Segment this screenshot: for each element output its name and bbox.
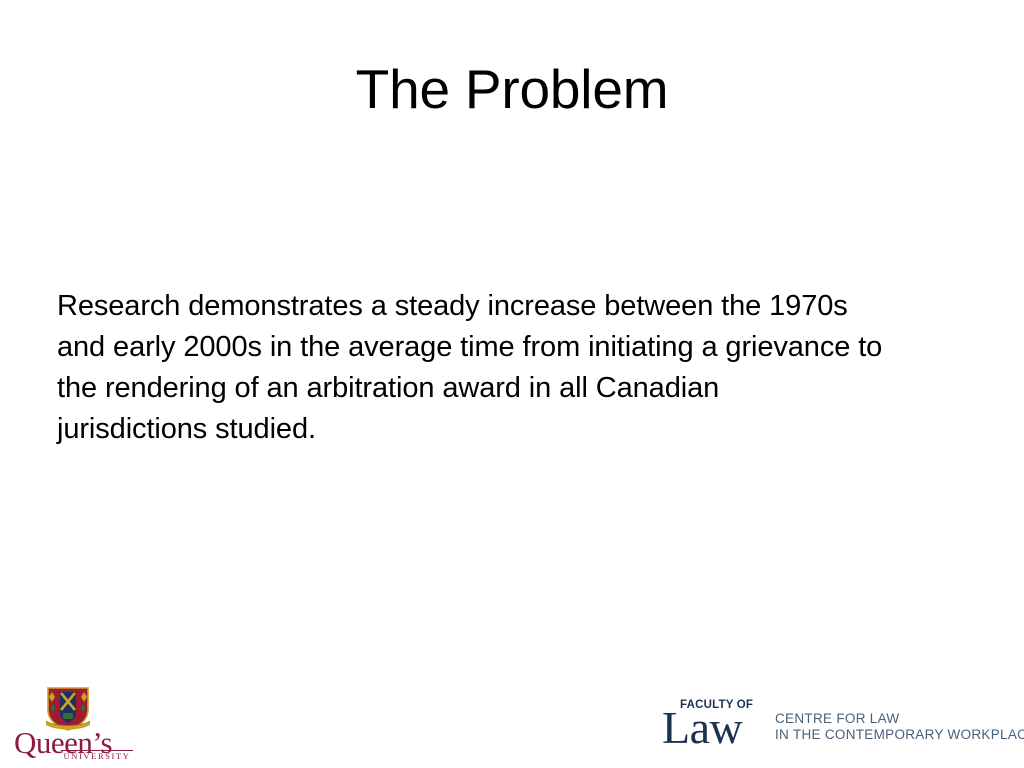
centre-name-line-2: IN THE CONTEMPORARY WORKPLACE (775, 727, 1015, 743)
body-line: and early 2000s in the average time from… (57, 327, 977, 368)
faculty-of-law-lockup: FACULTY OF Law (662, 699, 772, 751)
faculty-of-law-logo: FACULTY OF Law CENTRE FOR LAW IN THE CON… (662, 699, 1014, 751)
body-line: jurisdictions studied. (57, 409, 977, 450)
centre-name-block: CENTRE FOR LAW IN THE CONTEMPORARY WORKP… (775, 711, 1015, 743)
queens-university-subtext-row: UNIVERSITY (60, 749, 134, 761)
body-line: Research demonstrates a steady increase … (57, 286, 977, 327)
presentation-slide: The Problem Research demonstrates a stea… (0, 0, 1024, 768)
slide-body-text-block: Research demonstrates a steady increase … (57, 286, 977, 450)
body-line: the rendering of an arbitration award in… (57, 368, 977, 409)
centre-name-line-1: CENTRE FOR LAW (775, 711, 1015, 727)
queens-university-subtext: UNIVERSITY (64, 751, 131, 761)
queens-university-logo: Queen’s UNIVERSITY (14, 686, 134, 762)
queens-wordmark: Queen’s UNIVERSITY (14, 728, 134, 762)
page-title: The Problem (0, 58, 1024, 121)
law-wordmark: Law (662, 705, 742, 751)
